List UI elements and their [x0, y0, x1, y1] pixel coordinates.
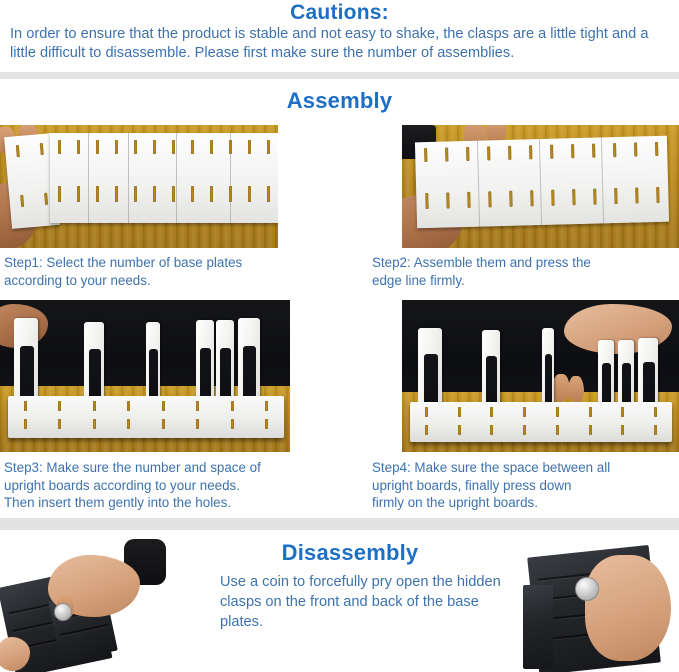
- slot-row-lower: [50, 185, 278, 203]
- base-plate: [8, 396, 284, 438]
- base-plate-main: [50, 133, 278, 223]
- slot-row-lower: [410, 424, 672, 436]
- step4-photo: [402, 300, 679, 452]
- finger-2: [568, 376, 584, 402]
- disassembly-title: Disassembly: [180, 540, 520, 566]
- step3-caption: Step3: Make sure the number and space of…: [4, 459, 350, 512]
- step1-scene: [0, 125, 278, 248]
- black-plate-edge: [523, 585, 553, 669]
- base-plate: [410, 402, 672, 442]
- step2-photo: [402, 125, 679, 248]
- step4-caption: Step4: Make sure the space between all u…: [372, 459, 672, 512]
- disassembly-body-text: Use a coin to forcefully pry open the hi…: [220, 572, 510, 632]
- cautions-title: Cautions:: [0, 1, 679, 25]
- step2-caption: Step2: Assemble them and press the edge …: [372, 254, 672, 289]
- assembly-title: Assembly: [0, 88, 679, 114]
- slot-row-upper: [410, 406, 672, 418]
- step3-photo: [0, 300, 290, 452]
- slot-row-upper: [5, 141, 54, 159]
- base-plate-assembled: [415, 136, 669, 229]
- coin: [54, 603, 72, 621]
- section-divider-bottom: [0, 518, 679, 530]
- slot-row-upper: [50, 139, 278, 155]
- slot-row-upper: [8, 400, 284, 412]
- step3-scene: [0, 300, 290, 452]
- step1-photo: [0, 125, 278, 248]
- slot-row-upper: [415, 141, 667, 164]
- instruction-sheet: Cautions: In order to ensure that the pr…: [0, 0, 679, 672]
- disassembly-photo-right: [523, 533, 679, 672]
- disassembly-right-scene: [523, 533, 679, 672]
- step2-scene: [402, 125, 679, 248]
- disassembly-left-scene: [0, 533, 192, 672]
- slot-row-lower: [8, 418, 284, 430]
- cautions-section: Cautions: In order to ensure that the pr…: [0, 0, 679, 72]
- cautions-body-text: In order to ensure that the product is s…: [10, 25, 672, 63]
- disassembly-photo-left: [0, 533, 192, 672]
- step1-caption: Step1: Select the number of base plates …: [4, 254, 304, 289]
- section-divider-top: [0, 72, 679, 79]
- hand-with-coin: [585, 555, 671, 661]
- coin: [575, 577, 599, 601]
- slot-row-lower: [416, 186, 668, 211]
- step4-scene: [402, 300, 679, 452]
